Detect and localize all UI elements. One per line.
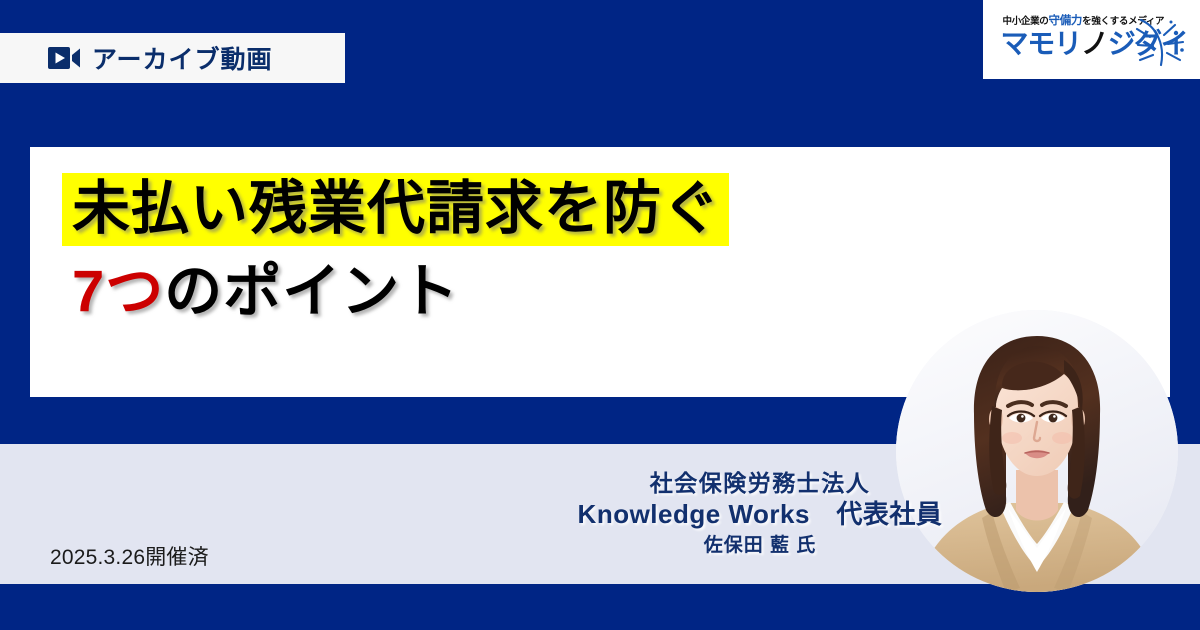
burst-mark-icon: [1131, 15, 1189, 71]
speaker-portrait-image: [896, 310, 1178, 592]
title-line2-number: 7つ: [72, 259, 164, 324]
event-date: 2025.3.26開催済: [50, 541, 209, 571]
logo-word-part1: マモリ: [1001, 28, 1081, 59]
title-line1-row: 未払い残業代請求を防ぐ: [62, 173, 729, 246]
archive-badge-label: アーカイブ動画: [92, 40, 273, 76]
title-line1: 未払い残業代請求を防ぐ: [62, 173, 729, 246]
title-line2-rest: のポイント: [164, 259, 459, 324]
archive-video-banner: 中小企業の守備力を強くするメディア マモリノジダイ: [0, 0, 1200, 630]
archive-badge[interactable]: アーカイブ動画: [0, 33, 345, 83]
media-logo[interactable]: 中小企業の守備力を強くするメディア マモリノジダイ: [983, 0, 1200, 79]
video-camera-icon: [48, 47, 80, 69]
title-line2: 7つのポイント: [62, 258, 729, 325]
logo-word-part2: ノ: [1081, 28, 1108, 59]
logo-tagline-before: 中小企業の: [1003, 16, 1049, 27]
speaker-portrait: [896, 310, 1178, 592]
media-logo-inner: 中小企業の守備力を強くするメディア マモリノジダイ: [997, 11, 1187, 73]
title-block: 未払い残業代請求を防ぐ 7つのポイント: [62, 173, 729, 326]
logo-tagline-highlight: 守備力: [1049, 15, 1083, 27]
